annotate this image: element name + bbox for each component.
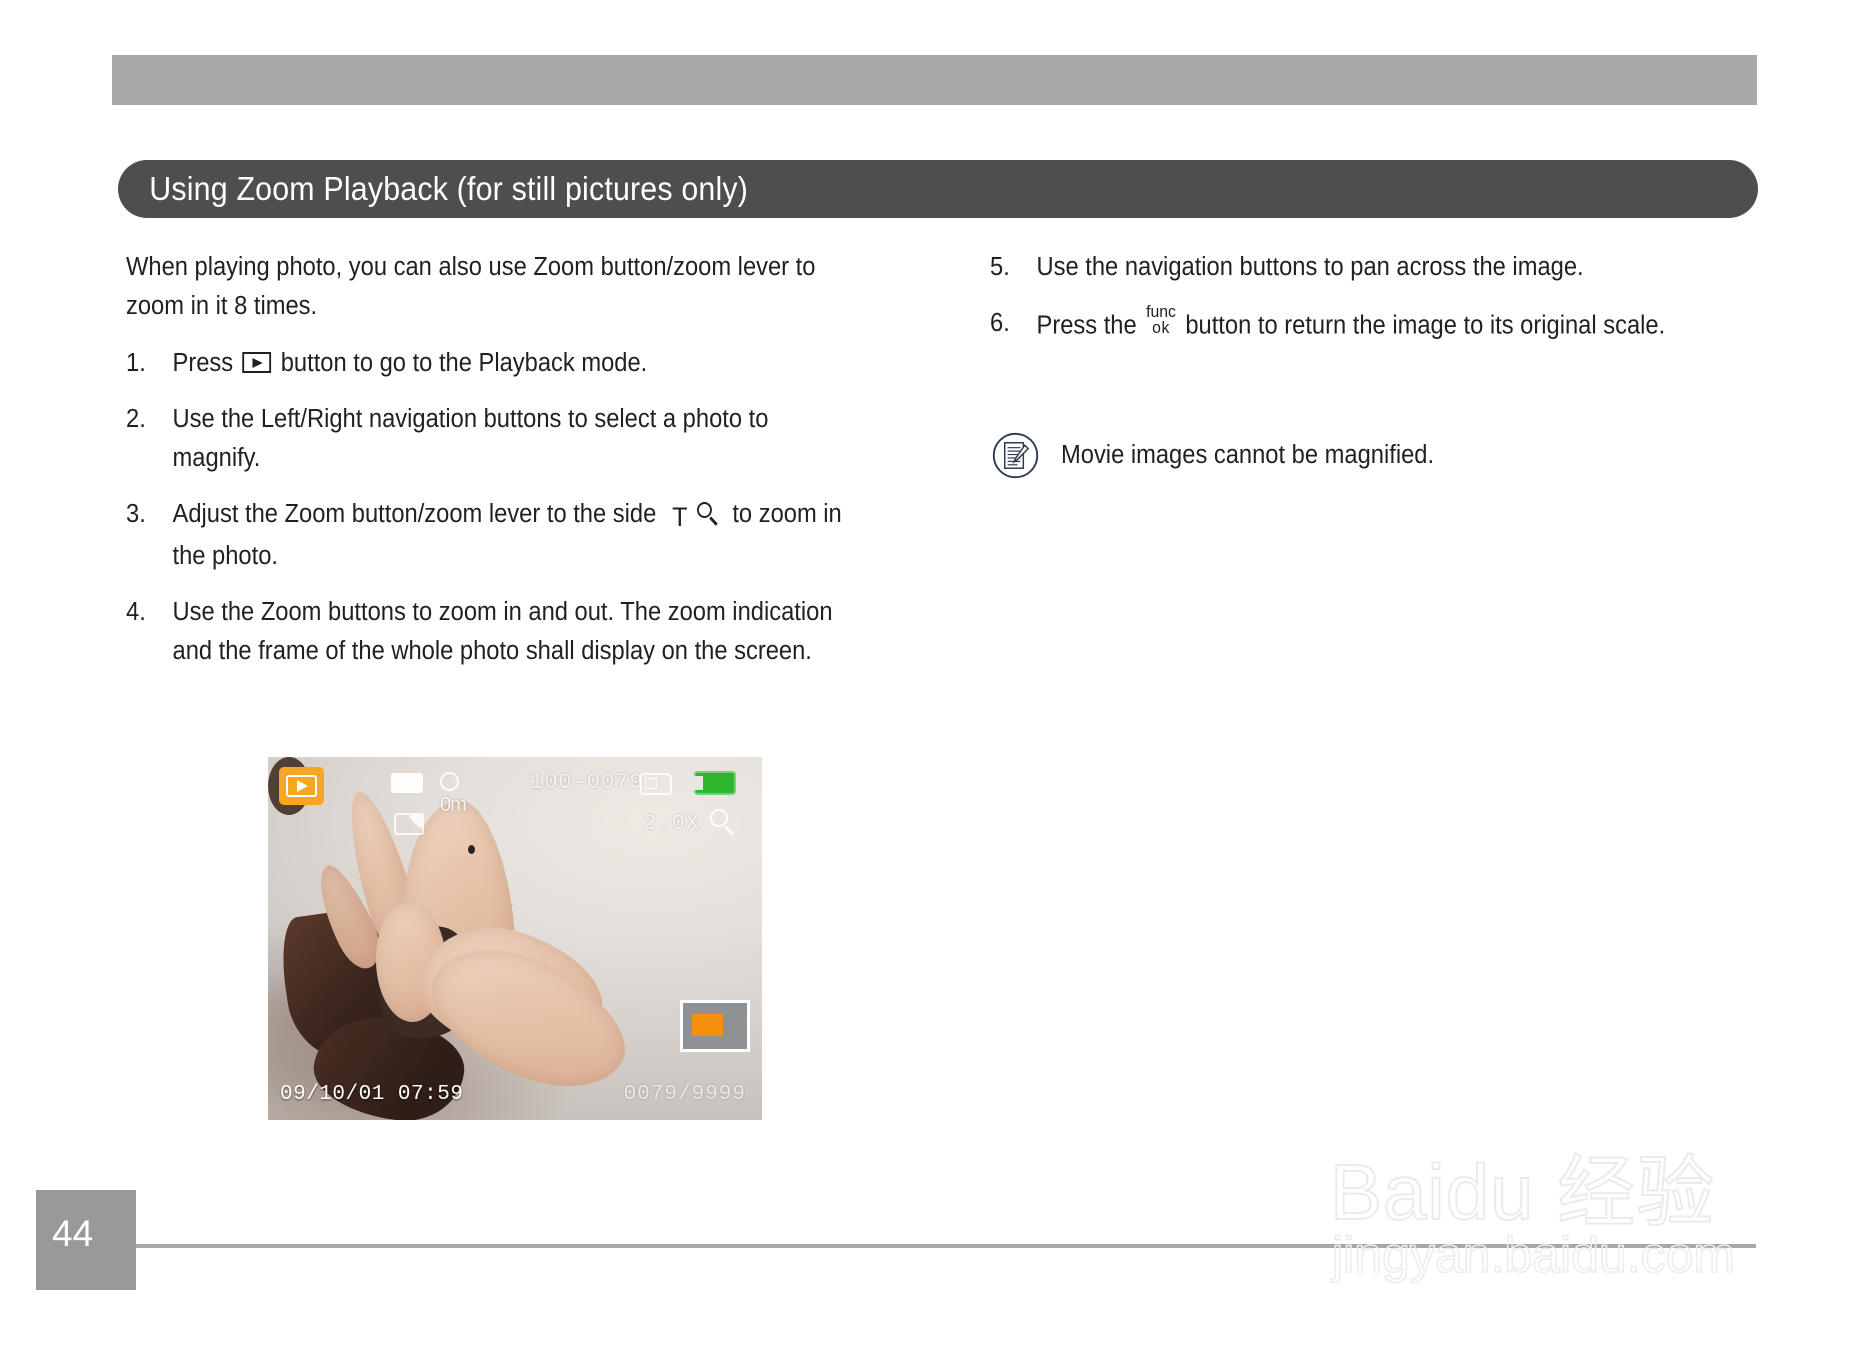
zoom-magnifier-icon	[710, 809, 738, 837]
watermark-brand: Baidu 经验	[1330, 1130, 1715, 1242]
step-text: Use the Left/Right navigation buttons to…	[173, 405, 769, 472]
step-text-after-icon: button to go to the Playback mode.	[281, 349, 648, 377]
page-number: 44	[52, 1213, 93, 1255]
note-callout: Movie images cannot be magnified.	[992, 432, 1462, 479]
frame-counter-text: 0079/9999	[624, 1083, 746, 1106]
note-text: Movie images cannot be magnified.	[1061, 441, 1434, 470]
zoom-in-magnifier-icon	[697, 502, 720, 527]
playback-button-icon	[243, 352, 272, 373]
steps-list-right: 5. Use the navigation buttons to pan acr…	[990, 248, 1750, 346]
section-title-bar: Using Zoom Playback (for still pictures …	[118, 160, 1758, 218]
step-text: Use the Zoom buttons to zoom in and out.…	[173, 598, 833, 665]
file-number-text: 100-0079	[530, 770, 644, 795]
func-ok-button-label: func ok	[1146, 304, 1176, 335]
list-item: 6. Press the func ok button to return th…	[990, 304, 1697, 346]
zoom-frame-indicator	[680, 1000, 750, 1052]
datetime-text: 09/10/01 07:59	[280, 1083, 463, 1106]
watermark-url: jingyan.baidu.com	[1332, 1226, 1735, 1284]
header-bar	[112, 55, 1757, 105]
protect-lock-icon: 0m	[440, 772, 474, 794]
page-title: Using Zoom Playback (for still pictures …	[118, 170, 748, 208]
list-item: 2. Use the Left/Right navigation buttons…	[126, 400, 842, 478]
left-column: When playing photo, you can also use Zoo…	[126, 248, 896, 688]
zoom-ratio-text: 2.0X	[643, 811, 700, 836]
step-number: 4.	[126, 593, 158, 632]
watermark: Baidu 经验 jingyan.baidu.com	[1330, 1130, 1810, 1300]
right-column: 5. Use the navigation buttons to pan acr…	[990, 248, 1750, 363]
list-item: 3. Adjust the Zoom button/zoom lever to …	[126, 495, 842, 576]
step-text-before-icon: Adjust the Zoom button/zoom lever to the…	[173, 500, 657, 528]
manual-page: Using Zoom Playback (for still pictures …	[0, 0, 1871, 1361]
step-text-before-icon: Press	[173, 349, 234, 377]
footer-divider	[136, 1244, 1756, 1248]
list-item: 4. Use the Zoom buttons to zoom in and o…	[126, 593, 842, 671]
ok-label: ok	[1146, 320, 1176, 336]
list-item: 5. Use the navigation buttons to pan acr…	[990, 248, 1697, 287]
dpof-print-icon	[394, 813, 424, 835]
protect-label: 0m	[440, 794, 466, 816]
intro-paragraph: When playing photo, you can also use Zoo…	[126, 248, 842, 326]
camera-lcd-screenshot: 0m 100-0079 2.0X 09/10/01 07:59 0079/999…	[268, 757, 762, 1120]
step-number: 2.	[126, 400, 158, 439]
steps-list-left: 1. Press button to go to the Playback mo…	[126, 344, 896, 671]
note-pad-pencil-icon	[992, 432, 1039, 479]
list-item: 1. Press button to go to the Playback mo…	[126, 344, 842, 383]
step-text: Use the navigation buttons to pan across…	[1037, 253, 1584, 281]
playback-mode-icon	[279, 767, 324, 805]
step-text-after-icon: button to return the image to its origin…	[1185, 312, 1665, 340]
step-text-before-icon: Press the	[1037, 312, 1137, 340]
zoom-frame-region	[692, 1014, 723, 1036]
step-number: 1.	[126, 344, 158, 383]
sd-card-icon	[640, 773, 672, 795]
step-number: 5.	[990, 248, 1022, 287]
telephoto-t-label: T	[672, 498, 688, 537]
step-number: 6.	[990, 304, 1022, 343]
lcd-osd-overlay: 0m 100-0079 2.0X 09/10/01 07:59 0079/999…	[268, 757, 762, 1120]
battery-full-icon	[694, 771, 736, 795]
step-number: 3.	[126, 495, 158, 534]
image-size-icon	[391, 773, 423, 793]
